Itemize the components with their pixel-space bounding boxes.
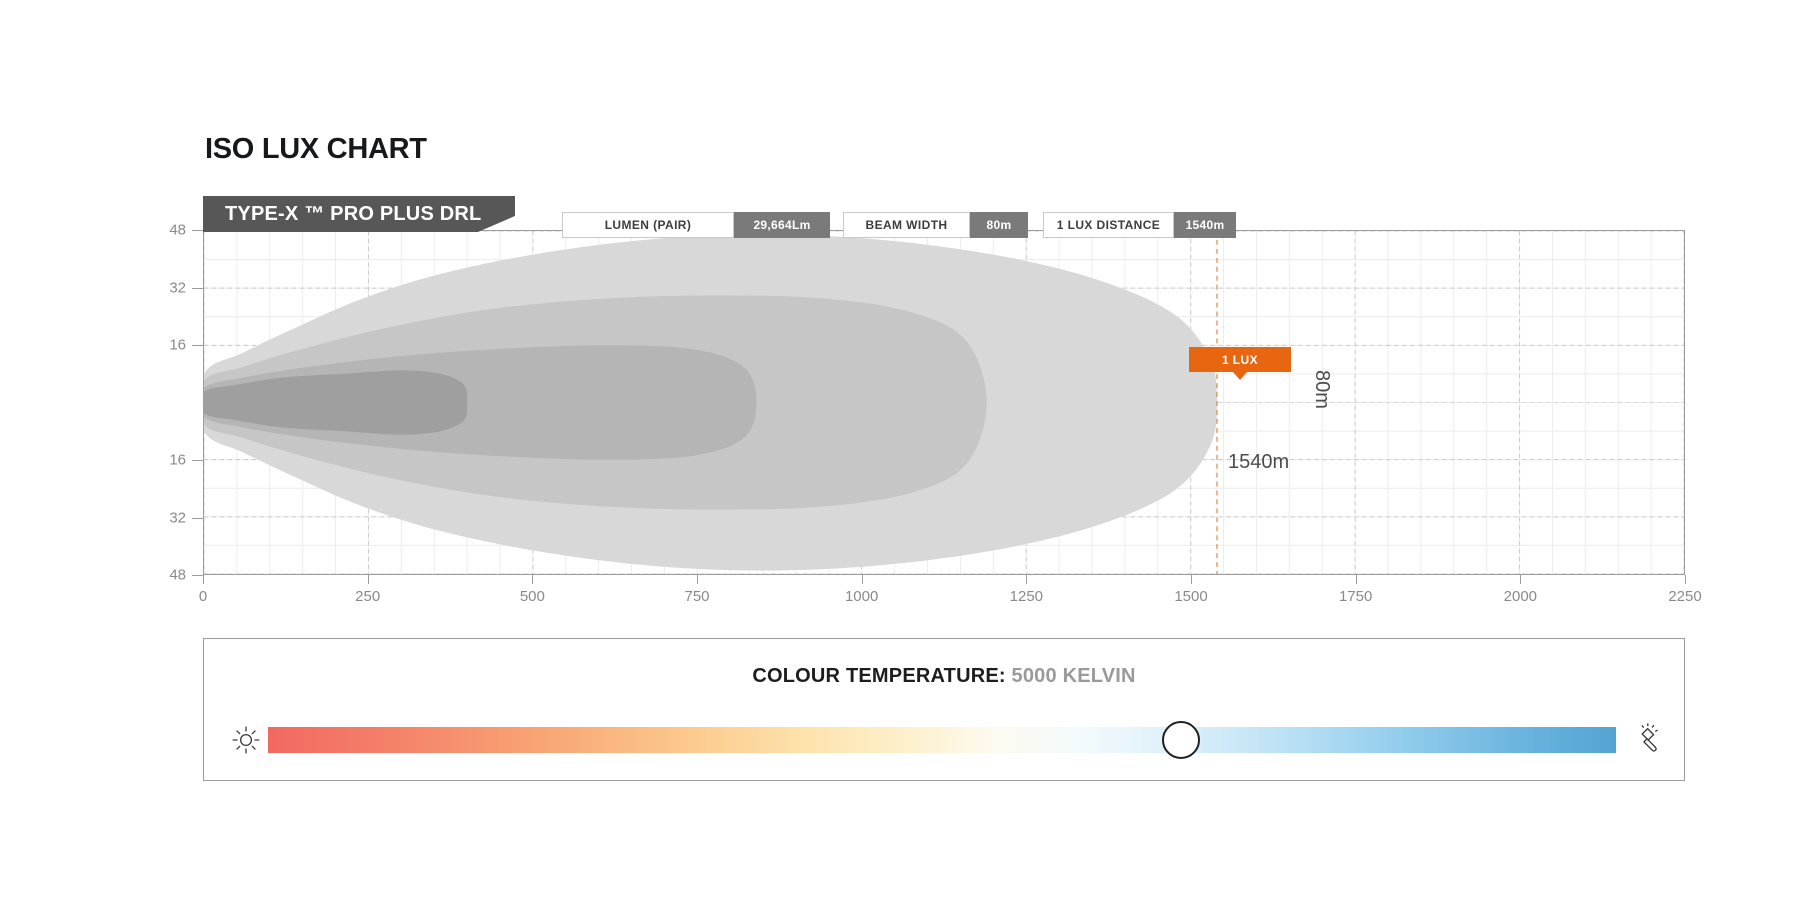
x-axis-tick-label: 1500	[1174, 588, 1207, 605]
lux-distance-annotation: 1540m	[1228, 451, 1289, 474]
colour-temperature-panel: COLOUR TEMPERATURE: 5000 KELVIN	[203, 638, 1685, 781]
colour-temperature-slider-row	[204, 715, 1684, 765]
spec-label-lumen: LUMEN (PAIR)	[562, 212, 734, 238]
x-axis-tick-label: 750	[684, 588, 709, 605]
kelvin-value: 5000 KELVIN	[1012, 665, 1136, 687]
y-axis-tick-label: 32	[146, 279, 186, 296]
spec-value-beam-width: 80m	[970, 212, 1028, 238]
x-axis-tick-mark	[1026, 575, 1027, 584]
x-axis-tick-label: 2000	[1504, 588, 1537, 605]
x-axis-tick-label: 0	[199, 588, 207, 605]
y-axis-tick-label: 16	[146, 452, 186, 469]
page-title: ISO LUX CHART	[205, 133, 427, 166]
y-axis-tick-mark	[192, 460, 203, 461]
x-axis-tick-mark	[862, 575, 863, 584]
colour-temperature-heading: COLOUR TEMPERATURE: 5000 KELVIN	[204, 665, 1684, 688]
y-axis-tick-mark	[192, 518, 203, 519]
x-axis-tick-mark	[1520, 575, 1521, 584]
x-axis-tick-mark	[1191, 575, 1192, 584]
x-axis-tick-mark	[203, 575, 204, 584]
y-axis-tick-label: 32	[146, 509, 186, 526]
spec-badge-lumen: LUMEN (PAIR) 29,664Lm	[562, 212, 830, 238]
y-axis-tick-mark	[192, 575, 203, 576]
x-axis-tick-mark	[532, 575, 533, 584]
product-label-badge: TYPE-X ™ PRO PLUS DRL	[203, 196, 515, 232]
y-axis-tick-label: 16	[146, 337, 186, 354]
y-axis-tick-mark	[192, 345, 203, 346]
colour-temperature-slider-thumb[interactable]	[1162, 721, 1200, 759]
sun-icon	[229, 723, 263, 757]
x-axis-tick-label: 250	[355, 588, 380, 605]
colour-temperature-slider-track[interactable]	[268, 727, 1616, 753]
plot-area	[203, 230, 1685, 575]
y-axis-tick-label: 48	[146, 567, 186, 584]
one-lux-marker-badge: 1 LUX	[1189, 347, 1291, 372]
beam-pattern-contours	[204, 231, 1684, 574]
x-axis-tick-label: 1250	[1010, 588, 1043, 605]
x-axis-tick-label: 2250	[1668, 588, 1701, 605]
spec-badge-lux-distance: 1 LUX DISTANCE 1540m	[1043, 212, 1236, 238]
spec-value-lumen: 29,664Lm	[734, 212, 830, 238]
x-axis-tick-label: 1000	[845, 588, 878, 605]
spec-label-lux-distance: 1 LUX DISTANCE	[1043, 212, 1174, 238]
y-axis-tick-mark	[192, 288, 203, 289]
spec-label-beam-width: BEAM WIDTH	[843, 212, 970, 238]
colour-temperature-label: COLOUR TEMPERATURE:	[752, 665, 1005, 687]
x-axis-tick-mark	[1356, 575, 1357, 584]
flashlight-icon	[1632, 723, 1666, 757]
y-axis-tick-label: 48	[146, 222, 186, 239]
x-axis-tick-mark	[697, 575, 698, 584]
spec-badge-beam-width: BEAM WIDTH 80m	[843, 212, 1028, 238]
x-axis-tick-mark	[1685, 575, 1686, 584]
beam-width-annotation: 80m	[1310, 370, 1333, 409]
x-axis-tick-label: 1750	[1339, 588, 1372, 605]
spec-value-lux-distance: 1540m	[1174, 212, 1236, 238]
x-axis-tick-mark	[368, 575, 369, 584]
y-axis-tick-mark	[192, 230, 203, 231]
iso-lux-chart-page: ISO LUX CHART TYPE-X ™ PRO PLUS DRL LUME…	[0, 0, 1800, 900]
x-axis-tick-label: 500	[520, 588, 545, 605]
